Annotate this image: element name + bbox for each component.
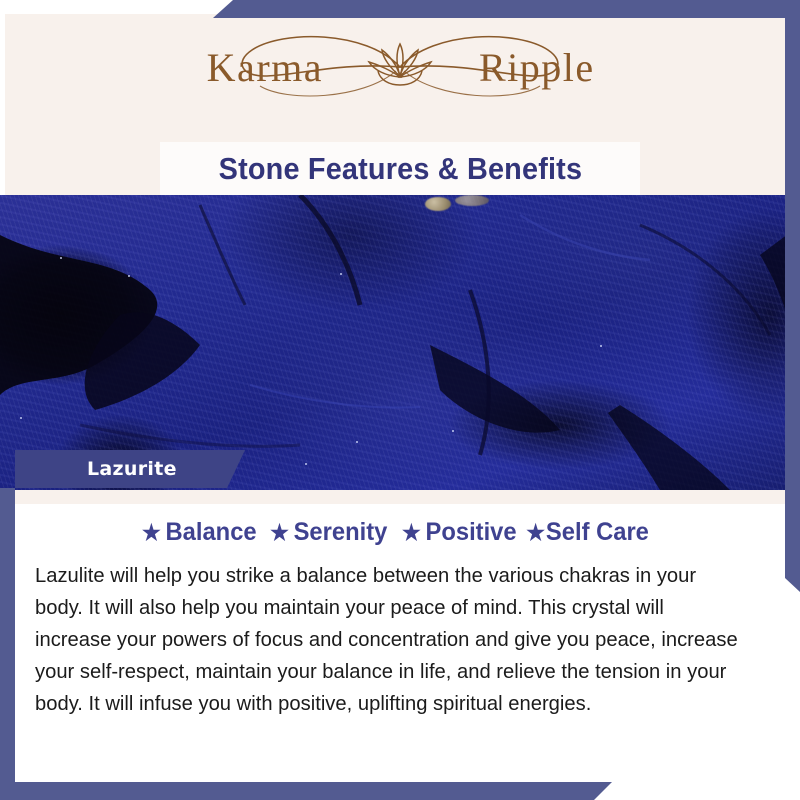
star-icon: ★ bbox=[402, 522, 421, 544]
calcite-speck bbox=[340, 273, 342, 275]
accent-bar-right bbox=[785, 0, 800, 592]
benefit-label: Self Care bbox=[546, 518, 649, 547]
brand-logo-svg: Karma Ripple bbox=[190, 24, 610, 110]
stone-description: Lazulite will help you strike a balance … bbox=[35, 560, 739, 720]
benefit-item-self-care: ★ Self Care bbox=[526, 518, 649, 547]
calcite-speck bbox=[600, 345, 602, 347]
calcite-speck bbox=[305, 463, 307, 465]
content-card: ★ Balance ★ Serenity ★ Positive ★ Self C… bbox=[5, 490, 786, 778]
benefit-item-positive: ★ Positive bbox=[402, 518, 517, 547]
benefit-label: Balance bbox=[165, 518, 256, 547]
calcite-speck bbox=[20, 417, 22, 419]
accent-bar-left bbox=[0, 488, 15, 800]
calcite-speck bbox=[128, 275, 130, 277]
lazurite-stone-photo bbox=[0, 195, 800, 490]
pyrite-inclusion-icon bbox=[425, 197, 451, 211]
poster-canvas: Karma Ripple Laz bbox=[0, 0, 800, 800]
benefits-row: ★ Balance ★ Serenity ★ Positive ★ Self C… bbox=[5, 518, 786, 547]
stone-name-text: Lazurite bbox=[15, 458, 177, 480]
star-icon: ★ bbox=[270, 522, 289, 544]
brand-name-left: Karma bbox=[207, 45, 323, 90]
calcite-speck bbox=[60, 257, 62, 259]
star-icon: ★ bbox=[526, 522, 545, 544]
calcite-speck bbox=[356, 441, 358, 443]
page-title: Stone Features & Benefits bbox=[218, 151, 582, 187]
calcite-speck bbox=[452, 430, 454, 432]
benefit-label: Positive bbox=[425, 518, 516, 547]
benefit-item-serenity: ★ Serenity bbox=[270, 518, 387, 547]
accent-bar-top-right bbox=[213, 0, 800, 18]
star-icon: ★ bbox=[142, 522, 161, 544]
stone-crack-lines bbox=[0, 195, 800, 490]
content-top-band bbox=[5, 490, 786, 504]
benefit-label: Serenity bbox=[294, 518, 388, 547]
brand-name-right: Ripple bbox=[479, 45, 595, 90]
page-title-strip: Stone Features & Benefits bbox=[160, 142, 640, 195]
accent-bar-bottom-left bbox=[0, 782, 612, 800]
benefit-item-balance: ★ Balance bbox=[142, 518, 257, 547]
stone-name-label: Lazurite bbox=[15, 450, 245, 488]
pyrite-inclusion-icon bbox=[455, 195, 489, 206]
brand-logo: Karma Ripple bbox=[0, 24, 800, 110]
